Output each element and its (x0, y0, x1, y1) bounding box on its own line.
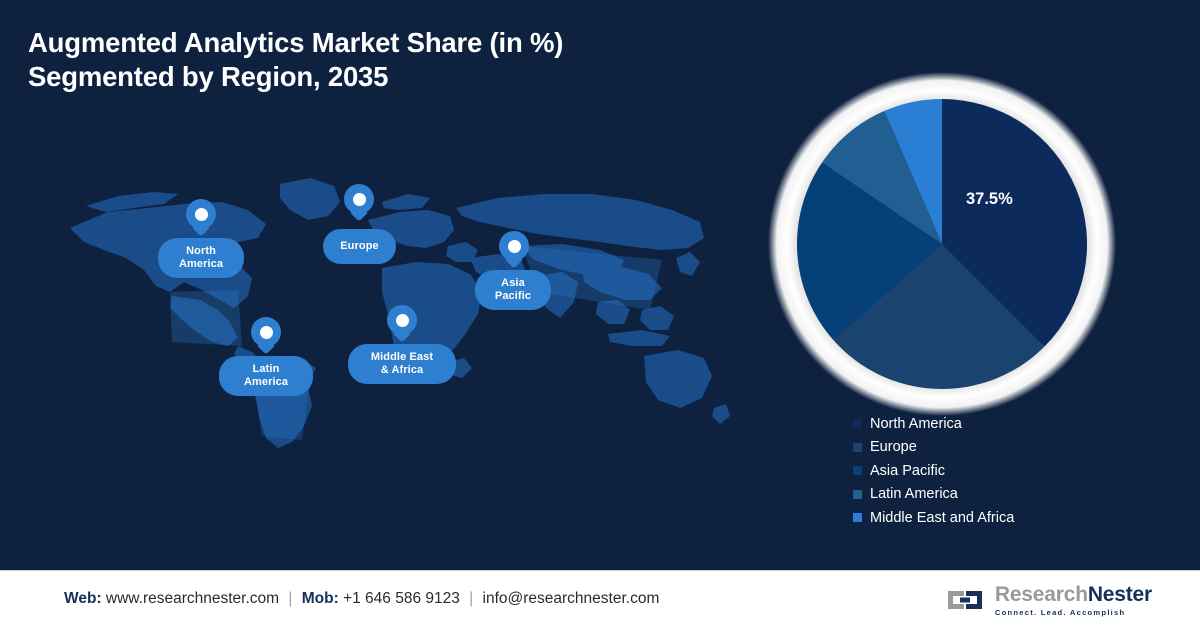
legend-label: Middle East and Africa (870, 510, 1014, 526)
legend-swatch-icon (853, 419, 862, 428)
logo-word-research: Research (995, 583, 1088, 606)
map-label-middle-east-africa[interactable]: Middle East & Africa (348, 344, 456, 384)
page-title-line-2: Segmented by Region, 2035 (28, 60, 728, 94)
footer-email-value[interactable]: info@researchnester.com (483, 590, 660, 607)
pie-chart-svg (797, 99, 1087, 389)
map-label-latin-america[interactable]: Latin America (219, 356, 313, 396)
infographic-canvas: Augmented Analytics Market Share (in %) … (0, 0, 1200, 628)
map-label-europe[interactable]: Europe (323, 229, 396, 264)
legend-swatch-icon (853, 443, 862, 452)
footer-web-value[interactable]: www.researchnester.com (106, 590, 279, 607)
legend-label: Latin America (870, 486, 958, 502)
logo-word-nester: Nester (1088, 583, 1152, 606)
map-label-north-america[interactable]: North America (158, 238, 244, 278)
pin-head-icon (344, 184, 374, 214)
world-map-svg (52, 150, 732, 450)
map-pin-north-america[interactable] (186, 199, 216, 239)
map-pin-latin-america[interactable] (251, 317, 281, 357)
map-label-asia-pacific[interactable]: Asia Pacific (475, 270, 551, 310)
map-pin-europe[interactable] (344, 184, 374, 224)
footer-bar: Web: www.researchnester.com | Mob: +1 64… (0, 570, 1200, 628)
footer-web-label: Web: (64, 590, 102, 607)
pin-head-icon (499, 231, 529, 261)
logo-title: ResearchNester (995, 584, 1152, 605)
pin-dot-icon (508, 240, 521, 253)
legend-item-latin-america[interactable]: Latin America (853, 483, 1153, 507)
footer-separator-1: | (283, 590, 297, 607)
legend-swatch-icon (853, 490, 862, 499)
legend-item-middle-east-and-africa[interactable]: Middle East and Africa (853, 506, 1153, 530)
logo-tagline: Connect. Lead. Accomplish (995, 608, 1152, 617)
legend-item-asia-pacific[interactable]: Asia Pacific (853, 459, 1153, 483)
legend-label: Asia Pacific (870, 463, 945, 479)
pin-dot-icon (396, 314, 409, 327)
pin-head-icon (186, 199, 216, 229)
map-pin-asia-pacific[interactable] (499, 231, 529, 271)
legend-swatch-icon (853, 513, 862, 522)
pin-dot-icon (353, 193, 366, 206)
footer-mob-label: Mob: (302, 590, 339, 607)
pie-slice-value-north-america: 37.5% (966, 190, 1013, 209)
footer-separator-2: | (464, 590, 478, 607)
world-map: North America Europe Asia Pacific Latin … (52, 150, 732, 450)
chart-legend: North America Europe Asia Pacific Latin … (853, 412, 1153, 530)
research-nester-logo[interactable]: ResearchNester Connect. Lead. Accomplish (944, 582, 1152, 618)
pin-head-icon (251, 317, 281, 347)
pie-slice-group (797, 99, 1087, 389)
logo-mark-icon (944, 585, 986, 615)
legend-label: North America (870, 416, 962, 432)
pin-dot-icon (260, 326, 273, 339)
page-title: Augmented Analytics Market Share (in %) … (28, 26, 728, 94)
logo-text-group: ResearchNester Connect. Lead. Accomplish (995, 584, 1152, 617)
pin-dot-icon (195, 208, 208, 221)
pin-head-icon (387, 305, 417, 335)
map-pin-middle-east-africa[interactable] (387, 305, 417, 345)
legend-item-europe[interactable]: Europe (853, 436, 1153, 460)
page-title-line-1: Augmented Analytics Market Share (in %) (28, 26, 728, 60)
legend-item-north-america[interactable]: North America (853, 412, 1153, 436)
legend-swatch-icon (853, 466, 862, 475)
pie-chart: 37.5% (768, 72, 1118, 417)
legend-label: Europe (870, 439, 917, 455)
footer-mob-value[interactable]: +1 646 586 9123 (343, 590, 460, 607)
footer-contact-info: Web: www.researchnester.com | Mob: +1 64… (64, 590, 659, 608)
